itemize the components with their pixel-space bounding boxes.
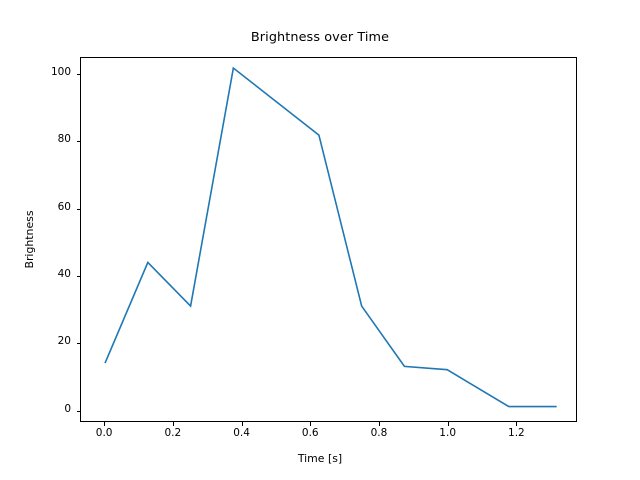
y-tick-mark — [77, 276, 81, 277]
chart-title: Brightness over Time — [0, 30, 640, 45]
y-tick-mark — [77, 74, 81, 75]
chart-figure: Brightness over Time 0.00.20.40.60.81.01… — [0, 0, 640, 480]
x-tick-mark — [104, 422, 105, 426]
x-tick-label: 1.0 — [439, 427, 456, 439]
x-axis-label: Time [s] — [0, 452, 640, 465]
series-line-brightness — [105, 68, 557, 407]
y-tick-mark — [77, 141, 81, 142]
x-tick-label: 0.2 — [164, 427, 181, 439]
x-tick-label: 0.6 — [302, 427, 319, 439]
y-tick-mark — [77, 411, 81, 412]
x-tick-mark — [379, 422, 380, 426]
x-tick-mark — [516, 422, 517, 426]
y-tick-mark — [77, 209, 81, 210]
x-tick-mark — [310, 422, 311, 426]
data-line-series — [81, 58, 576, 421]
x-tick-mark — [173, 422, 174, 426]
y-axis-label: Brightness — [22, 57, 38, 422]
x-tick-label: 0.8 — [371, 427, 388, 439]
x-tick-label: 0.0 — [96, 427, 113, 439]
x-tick-label: 0.4 — [233, 427, 250, 439]
x-tick-mark — [242, 422, 243, 426]
plot-area — [80, 57, 577, 422]
x-tick-mark — [448, 422, 449, 426]
x-tick-label: 1.2 — [508, 427, 525, 439]
y-tick-mark — [77, 343, 81, 344]
